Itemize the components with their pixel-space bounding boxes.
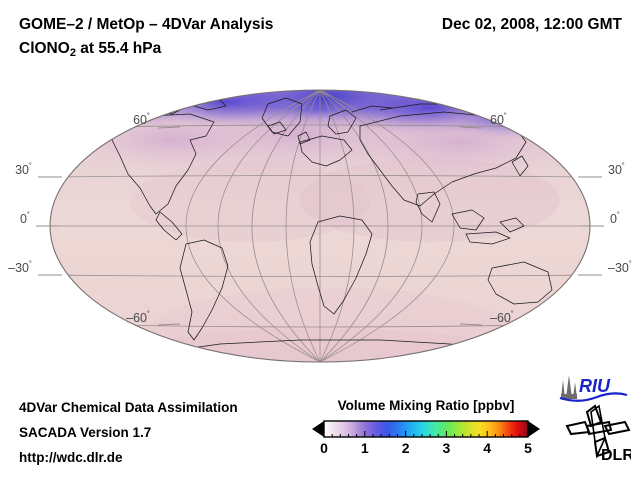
- species-name: ClONO: [19, 40, 70, 57]
- colorbar-tick-1: 1: [361, 440, 369, 456]
- latitude-label-30s-left: –30˚: [8, 260, 32, 275]
- latitude-label-0-right: 0˚: [610, 211, 620, 226]
- timestamp: Dec 02, 2008, 12:00 GMT: [442, 16, 622, 34]
- colorbar-tick-0: 0: [320, 440, 328, 456]
- latitude-label-60n-right: 60˚: [490, 112, 507, 127]
- colorbar-tick-labels: 012345: [310, 440, 542, 462]
- footer-method: 4DVar Chemical Data Assimilation: [19, 400, 238, 415]
- latitude-label-30s-right: –30˚: [608, 260, 632, 275]
- latitude-label-60s-left: –60˚: [126, 310, 150, 325]
- riu-tower-icon: [561, 375, 577, 399]
- dlr-wordmark: DLR: [601, 447, 631, 462]
- colorbar-bar: [324, 421, 528, 437]
- species-subtitle: ClONO2 at 55.4 hPa: [19, 40, 161, 59]
- map-panel: 60˚ 60˚ 30˚ 30˚ 0˚ 0˚ –30˚ –30˚ –60˚ –60…: [0, 82, 640, 382]
- colorbar-tick-3: 3: [442, 440, 450, 456]
- riu-logo: RIU: [557, 372, 629, 402]
- colorbar-gradient: [310, 419, 550, 439]
- colorbar: Volume Mixing Ratio [ppbv] 012345: [310, 398, 550, 470]
- colorbar-tick-4: 4: [483, 440, 491, 456]
- latitude-label-60s-right: –60˚: [490, 310, 514, 325]
- dlr-logo: DLR: [565, 404, 631, 462]
- colorbar-title: Volume Mixing Ratio [ppbv]: [310, 398, 542, 413]
- colorbar-tick-2: 2: [402, 440, 410, 456]
- footer-url: http://wdc.dlr.de: [19, 450, 123, 465]
- latitude-label-30n-right: 30˚: [608, 162, 625, 177]
- colorbar-extend-left-arrow: [312, 421, 324, 437]
- riu-wordmark: RIU: [579, 376, 611, 396]
- colorbar-extend-right-arrow: [528, 421, 540, 437]
- colorbar-tick-5: 5: [524, 440, 532, 456]
- footer-version: SACADA Version 1.7: [19, 425, 151, 440]
- page-title: GOME–2 / MetOp – 4DVar Analysis: [19, 16, 273, 34]
- data-field: [50, 82, 600, 382]
- latitude-label-60n-left: 60˚: [133, 112, 150, 127]
- latitude-label-30n-left: 30˚: [15, 162, 32, 177]
- latitude-label-0-left: 0˚: [20, 211, 30, 226]
- world-map: [0, 82, 640, 382]
- species-pressure-level: at 55.4 hPa: [76, 40, 161, 57]
